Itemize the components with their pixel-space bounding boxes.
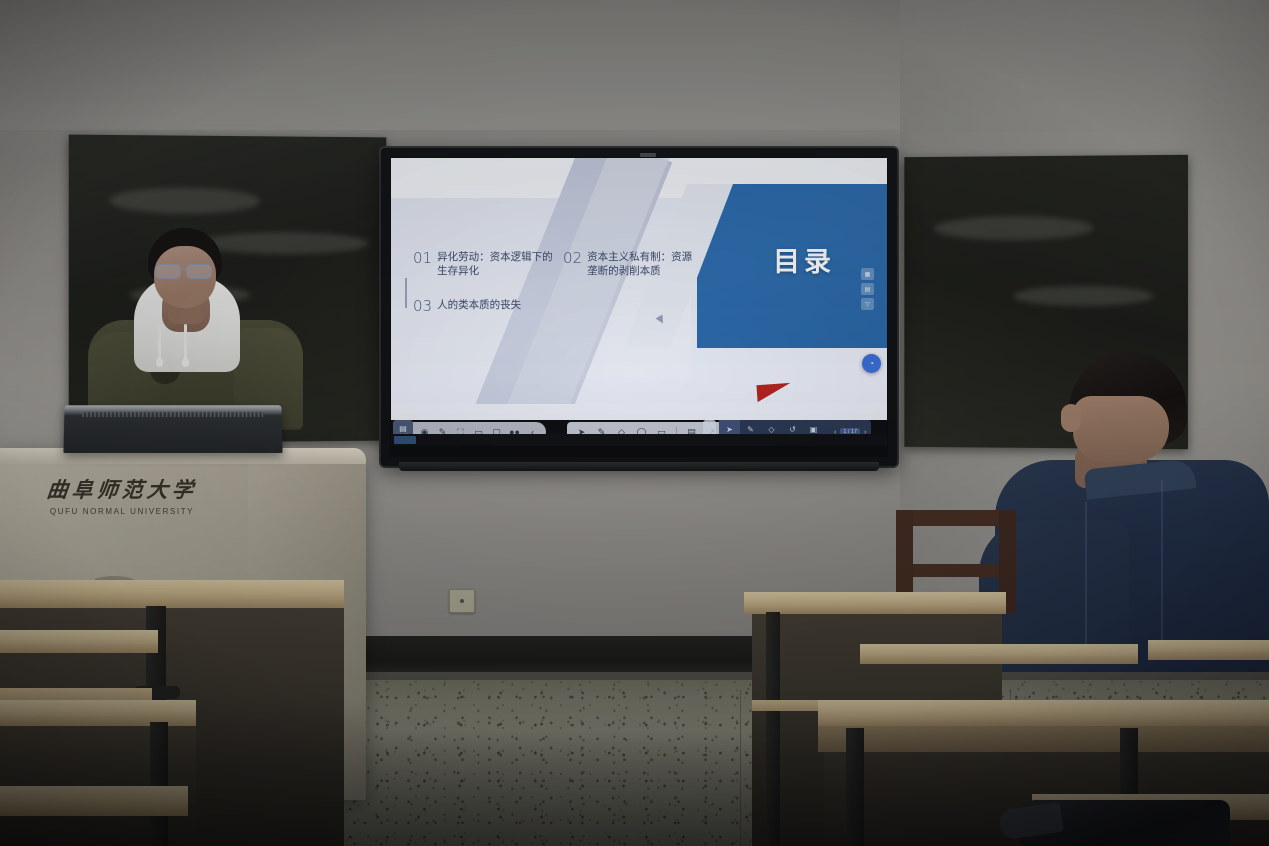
drawstring-tip xyxy=(182,358,189,367)
glasses-icon xyxy=(154,264,216,277)
hoodie-drawstring xyxy=(184,324,187,362)
university-plaque: 曲阜师范大学 QUFU NORMAL UNIVERSITY xyxy=(22,474,222,516)
slide-bottom-strip xyxy=(391,404,887,420)
chip-button[interactable]: ▤ xyxy=(861,283,874,295)
wall-outlet xyxy=(449,589,475,613)
university-name-cn: 曲阜师范大学 xyxy=(20,474,223,504)
chip-button[interactable]: ▽ xyxy=(861,298,874,310)
panel-brand-mark xyxy=(640,153,656,157)
toc-item-text: 人的类本质的丧失 xyxy=(437,298,521,312)
toc-item-text: 资本主义私有制：资源垄断的剥削本质 xyxy=(587,250,693,278)
lectern-monitor xyxy=(63,405,282,453)
presentation-slide[interactable]: 目录 01 异化劳动：资本逻辑下的生存异化 02 资本主义私有制：资源垄断的剥削… xyxy=(391,158,887,420)
classroom-photo: 目录 01 异化劳动：资本逻辑下的生存异化 02 资本主义私有制：资源垄断的剥削… xyxy=(0,0,1269,846)
toc-item-number: 01 xyxy=(413,250,432,268)
assistant-fab-icon[interactable]: ◔ xyxy=(862,354,881,373)
os-taskbar[interactable] xyxy=(391,434,887,446)
pen-icon: ✎ xyxy=(747,426,754,434)
drawstring-tip xyxy=(156,358,163,367)
jacket-seam xyxy=(1085,502,1087,652)
slide-side-chips[interactable]: ▦ ▤ ▽ xyxy=(861,268,874,310)
taskbar-item[interactable] xyxy=(394,436,416,444)
cursor-icon: ➤ xyxy=(726,426,733,434)
toc-item-text: 异化劳动：资本逻辑下的生存异化 xyxy=(437,250,557,278)
jacket-seam xyxy=(1161,480,1163,660)
toc-item-number: 03 xyxy=(413,298,432,316)
eraser-icon: ◇ xyxy=(768,426,774,434)
student-ear xyxy=(1061,404,1081,432)
slide-side-bar xyxy=(405,278,407,308)
presenter-person xyxy=(88,228,303,428)
insert-icon: ▣ xyxy=(810,426,818,434)
undo-icon: ↺ xyxy=(789,426,796,434)
slide-red-accent xyxy=(756,383,791,402)
monitor-vent xyxy=(82,412,264,417)
toc-item: 02 资本主义私有制：资源垄断的剥削本质 xyxy=(563,250,693,278)
chair-mid-rail xyxy=(896,564,1016,577)
panel-bottom-bar xyxy=(399,462,879,471)
toc-item: 01 异化劳动：资本逻辑下的生存异化 xyxy=(413,250,557,278)
chair-top-rail xyxy=(896,510,1016,526)
university-name-en: QUFU NORMAL UNIVERSITY xyxy=(22,507,222,516)
slide-title: 目录 xyxy=(773,240,835,279)
hoodie-drawstring xyxy=(158,324,161,362)
chip-button[interactable]: ▦ xyxy=(861,268,874,280)
floor-seam xyxy=(740,690,741,846)
panel-screen[interactable]: 目录 01 异化劳动：资本逻辑下的生存异化 02 资本主义私有制：资源垄断的剥削… xyxy=(391,158,887,446)
toc-item: 03 人的类本质的丧失 xyxy=(413,298,521,316)
toc-item-number: 02 xyxy=(563,250,582,268)
student-face xyxy=(1073,396,1169,462)
